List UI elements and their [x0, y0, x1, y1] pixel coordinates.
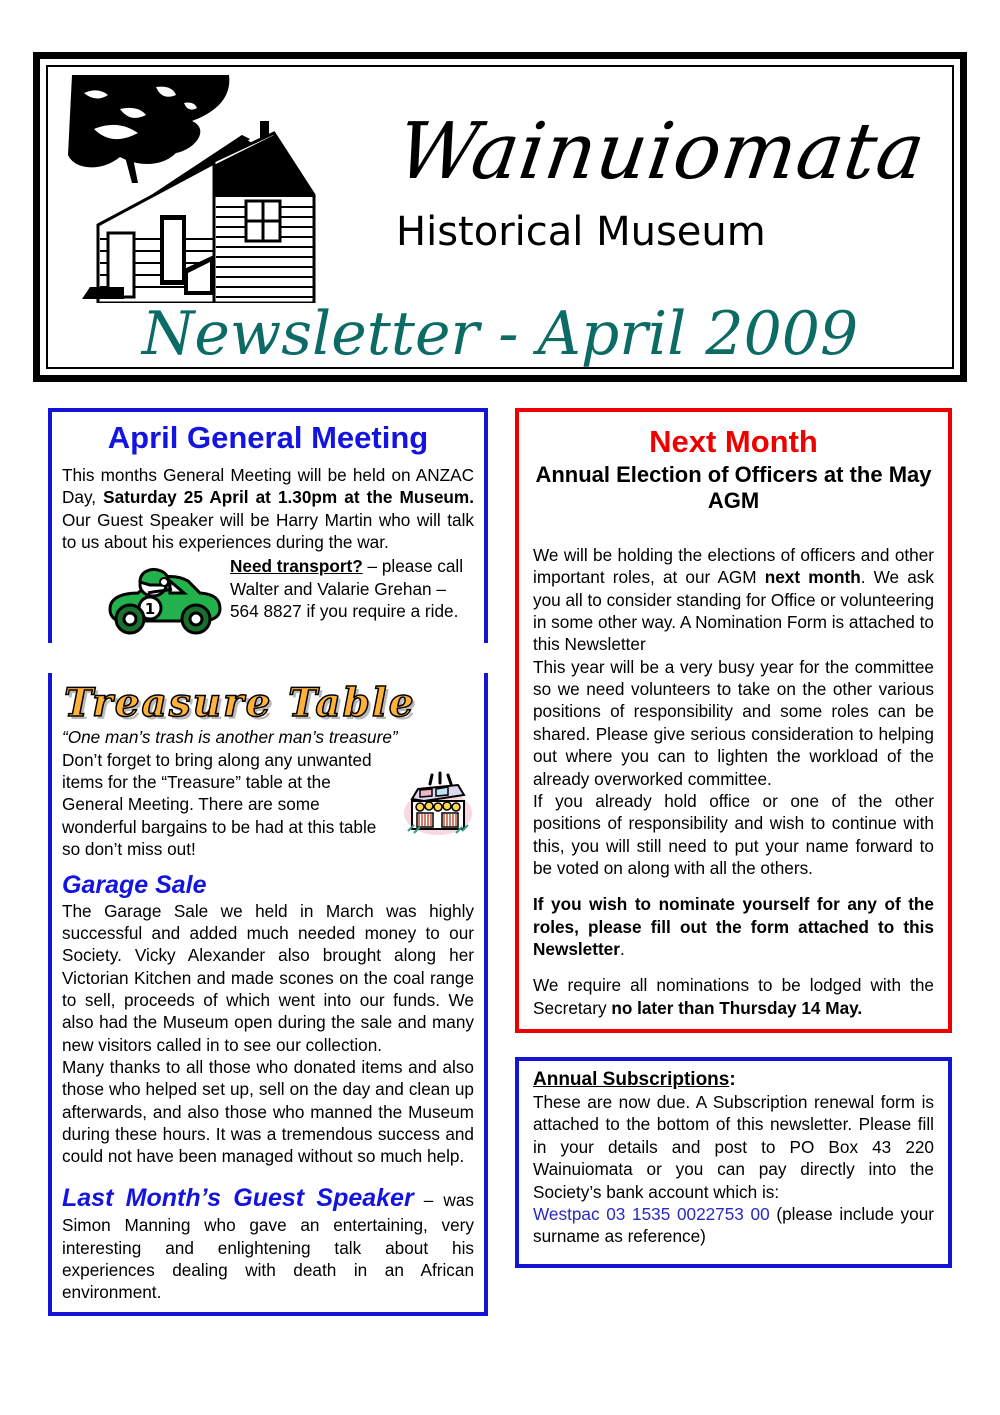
treasure-quote: “One man’s trash is another man’s treasu…: [62, 726, 474, 748]
newsletter-title: Newsletter - April 2009: [48, 299, 952, 369]
subscriptions-bank-line: Westpac 03 1535 0022753 00 (please inclu…: [533, 1203, 934, 1248]
left-column: April General Meeting This months Genera…: [48, 408, 488, 1316]
right-column: Next Month Annual Election of Officers a…: [515, 408, 952, 1268]
april-general-meeting-box: April General Meeting This months Genera…: [48, 408, 488, 643]
next-month-spacer: [533, 518, 934, 544]
masthead-title-block: Wainuiomata Historical Museum: [378, 113, 938, 263]
annual-subscriptions-box: Annual Subscriptions: These are now due.…: [515, 1057, 952, 1268]
next-month-paragraph-3: If you already hold office or one of the…: [533, 790, 934, 879]
next-month-subtitle: Annual Election of Officers at the May A…: [533, 462, 934, 514]
garage-sale-paragraph-1: The Garage Sale we held in March was hig…: [62, 900, 474, 1057]
treasure-chest-icon: [398, 769, 478, 841]
treasure-table-wordart-title: Treasure Table: [64, 683, 474, 724]
next-month-p1-bold: next month: [765, 567, 861, 587]
museum-building-illustration: [64, 73, 374, 303]
next-month-gap-2: [533, 960, 934, 974]
right-column-spacer: [515, 1033, 952, 1057]
next-month-paragraph-1: We will be holding the elections of offi…: [533, 544, 934, 656]
green-race-car-icon: 1: [104, 563, 224, 635]
meeting-body-bold: Saturday 25 April at 1.30pm at the Museu…: [103, 487, 474, 507]
svg-text:1: 1: [145, 600, 155, 618]
bank-account-details: Westpac 03 1535 0022753 00: [533, 1204, 770, 1224]
treasure-garage-speaker-box: Treasure Table: [48, 673, 488, 1315]
transport-text: Need transport? – please call Walter and…: [230, 555, 474, 622]
next-month-paragraph-2: This year will be a very busy year for t…: [533, 656, 934, 790]
nominate-bold-text: If you wish to nominate yourself for any…: [533, 894, 934, 959]
org-subtitle: Historical Museum: [396, 209, 766, 255]
newsletter-page: Wainuiomata Historical Museum Newsletter…: [0, 0, 1000, 1415]
nominate-tail: .: [620, 939, 625, 959]
left-column-spacer: [48, 643, 488, 673]
transport-row: 1 Need transport? – please call Walter a…: [62, 555, 474, 635]
guest-speaker-block: Last Month’s Guest Speaker – was Simon M…: [62, 1182, 474, 1304]
deadline-bold: no later than Thursday 14 May.: [611, 998, 862, 1018]
annual-subscriptions-heading: Annual Subscriptions:: [533, 1069, 934, 1091]
subscriptions-body: These are now due. A Subscription renewa…: [533, 1091, 934, 1203]
section-gap: [62, 1168, 474, 1182]
masthead: Wainuiomata Historical Museum Newsletter…: [33, 52, 967, 382]
next-month-paragraph-4: If you wish to nominate yourself for any…: [533, 893, 934, 960]
garage-sale-title: Garage Sale: [62, 871, 474, 900]
treasure-body: Don’t forget to bring along any unwanted…: [62, 749, 392, 861]
guest-speaker-title: Last Month’s Guest Speaker: [62, 1184, 414, 1212]
next-month-gap-1: [533, 879, 934, 893]
april-meeting-title: April General Meeting: [62, 420, 474, 456]
next-month-paragraph-5: We require all nominations to be lodged …: [533, 974, 934, 1019]
org-name-script: Wainuiomata: [392, 107, 931, 197]
april-meeting-body: This months General Meeting will be held…: [62, 464, 474, 553]
next-month-box: Next Month Annual Election of Officers a…: [515, 408, 952, 1033]
subscriptions-heading-colon: :: [729, 1069, 735, 1090]
next-month-title: Next Month: [533, 424, 934, 460]
garage-sale-paragraph-2: Many thanks to all those who donated ite…: [62, 1056, 474, 1168]
subscriptions-heading-text: Annual Subscriptions: [533, 1069, 729, 1090]
meeting-body-part2: Our Guest Speaker will be Harry Martin w…: [62, 510, 474, 552]
masthead-inner-border: Wainuiomata Historical Museum Newsletter…: [46, 65, 954, 369]
need-transport-label: Need transport?: [230, 556, 363, 576]
